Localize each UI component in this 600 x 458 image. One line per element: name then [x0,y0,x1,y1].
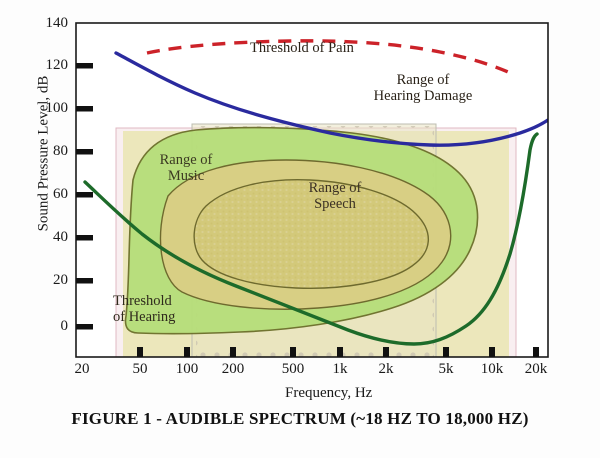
y-tick-0: 0 [34,318,68,335]
annotation-hearing-damage-line1: Range of [353,72,493,88]
annotation-hearing-line2: of Hearing [113,309,209,325]
annotation-threshold-of-pain: Threshold of Pain [250,40,354,56]
annotation-hearing-line1: Threshold [113,293,209,309]
x-tick-1k: 1k [318,361,362,378]
x-tick-5k: 5k [424,361,468,378]
annotation-threshold-of-hearing: Threshold of Hearing [113,293,209,325]
annotation-speech-line1: Range of [292,180,378,196]
figure-caption: FIGURE 1 - AUDIBLE SPECTRUM (~18 HZ TO 1… [0,409,600,429]
annotation-range-of-speech: Range of Speech [292,180,378,212]
x-tick-2k: 2k [364,361,408,378]
x-tick-20: 20 [60,361,104,378]
y-axis-title: Sound Pressure Level, dB [36,64,53,244]
x-tick-10k: 10k [470,361,514,378]
figure-container: 140 120 100 80 60 40 20 0 20 50 100 200 … [0,0,600,458]
x-tick-500: 500 [271,361,315,378]
annotation-speech-line2: Speech [292,196,378,212]
annotation-music-line2: Music [143,168,229,184]
annotation-hearing-damage-line2: Hearing Damage [353,88,493,104]
x-axis-title: Frequency, Hz [285,385,372,402]
y-tick-20: 20 [34,272,68,289]
x-tick-100: 100 [165,361,209,378]
annotation-range-of-music: Range of Music [143,152,229,184]
x-tick-200: 200 [211,361,255,378]
x-tick-20k: 20k [514,361,558,378]
annotation-music-line1: Range of [143,152,229,168]
annotation-threshold-of-pain-text: Threshold of Pain [250,40,354,56]
annotation-range-of-hearing-damage: Range of Hearing Damage [353,72,493,104]
y-tick-140: 140 [34,15,68,32]
x-tick-50: 50 [118,361,162,378]
